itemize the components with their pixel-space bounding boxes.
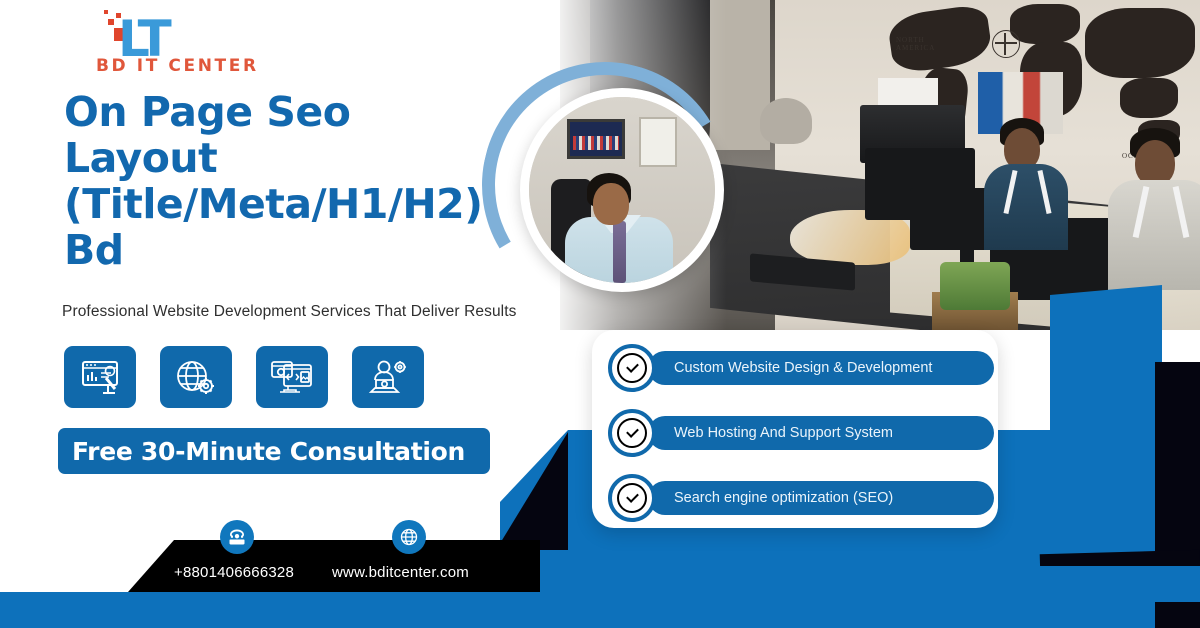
features-card: Custom Website Design & Development Web … [592,330,998,528]
service-icon-row [64,346,424,408]
feature-label: Web Hosting And Support System [674,425,893,441]
right-blue-stripe [1040,566,1200,602]
phone-number[interactable]: +8801406666328 [174,564,294,581]
feature-label: Search engine optimization (SEO) [674,490,893,506]
check-circle-icon [608,344,656,392]
cta-label: Free 30-Minute Consultation [58,437,465,466]
contact-info: +8801406666328 www.bditcenter.com [150,520,570,592]
feature-item[interactable]: Web Hosting And Support System [608,413,994,453]
portrait-photo [520,88,724,292]
page-subtitle: Professional Website Development Service… [62,303,516,321]
feature-item[interactable]: Custom Website Design & Development [608,348,994,388]
logo-company-name: BD IT CENTER [96,56,259,76]
globe-gear-icon[interactable] [160,346,232,408]
check-circle-icon [608,474,656,522]
globe-icon[interactable] [392,520,426,554]
check-circle-icon [608,409,656,457]
feature-label: Custom Website Design & Development [674,360,932,376]
company-logo[interactable]: LT BD IT CENTER [96,6,268,78]
support-agent-icon[interactable] [352,346,424,408]
feature-pill[interactable]: Web Hosting And Support System [648,416,994,450]
promo-banner: NORTHAMERICA SOUTHAMERICA AFRICA OCEANIA [0,0,1200,628]
page-title: On Page Seo Layout (Title/Meta/H1/H2) Bd [64,90,484,274]
web-design-icon[interactable] [256,346,328,408]
website-url[interactable]: www.bditcenter.com [332,564,469,581]
feature-pill[interactable]: Custom Website Design & Development [648,351,994,385]
feature-pill[interactable]: Search engine optimization (SEO) [648,481,994,515]
analytics-wrench-icon[interactable] [64,346,136,408]
bottom-blue-bar [0,592,1200,628]
cta-button[interactable]: Free 30-Minute Consultation [58,428,490,474]
telephone-icon[interactable] [220,520,254,554]
feature-item[interactable]: Search engine optimization (SEO) [608,478,994,518]
